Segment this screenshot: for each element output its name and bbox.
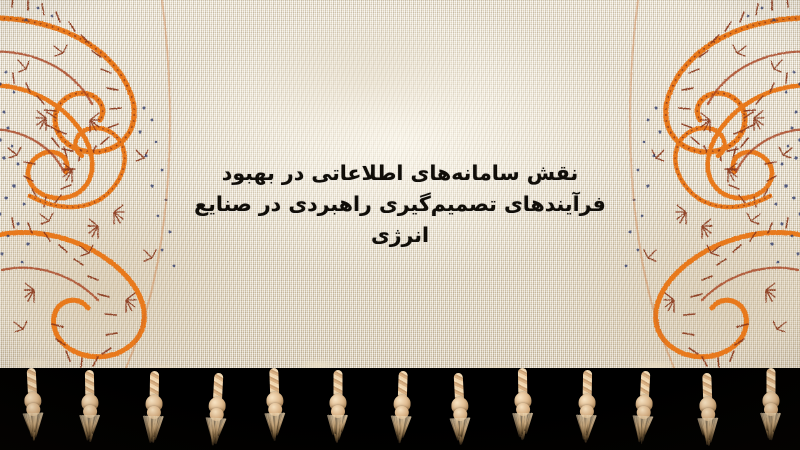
tassel (569, 369, 604, 442)
tassel (505, 368, 540, 440)
tassel-fringe (0, 368, 800, 450)
tassel-brush (327, 415, 349, 443)
tassel (73, 369, 108, 442)
tassel-brush (79, 414, 101, 442)
tassel (754, 368, 788, 440)
tassel (625, 370, 663, 444)
title-line-3: انرژی (150, 220, 650, 251)
title-line-1: نقش سامانه‌های اطلاعاتی در بهبود (150, 158, 650, 189)
tassel-brush (760, 413, 782, 441)
tassel (384, 370, 420, 443)
tassel-brush (575, 414, 597, 442)
tassel (199, 372, 237, 446)
tassel-brush (697, 417, 720, 446)
slide-canvas: نقش سامانه‌های اطلاعاتی در بهبود فرآینده… (0, 0, 800, 450)
tassel (321, 370, 355, 442)
tassel (14, 368, 52, 441)
tassel (689, 372, 725, 445)
tassel-brush (449, 417, 472, 446)
tassel-brush (631, 415, 654, 444)
title-line-2: فرآیندهای تصمیم‌گیری راهبردی در صنایع (150, 189, 650, 220)
tassel-brush (22, 412, 45, 441)
tassel-brush (512, 413, 534, 441)
tassel-brush (390, 416, 413, 445)
tassel (441, 372, 479, 446)
slide-title: نقش سامانه‌های اطلاعاتی در بهبود فرآینده… (150, 158, 650, 251)
tassel-brush (142, 416, 164, 444)
tassel-brush (204, 417, 227, 446)
tassel (136, 371, 171, 444)
tassel-brush (264, 413, 287, 442)
tassel (257, 368, 293, 441)
